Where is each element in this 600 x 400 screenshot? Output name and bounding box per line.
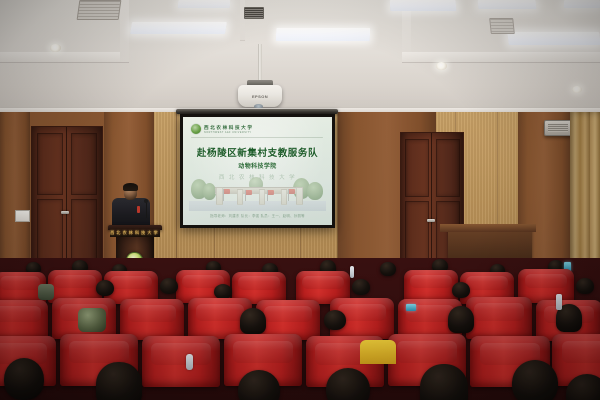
door-panel — [71, 133, 97, 195]
door-panel — [37, 199, 63, 267]
wall-speaker — [544, 120, 572, 136]
backpack — [38, 284, 54, 300]
gate-tree — [307, 182, 323, 200]
recessed-downlight — [436, 62, 447, 70]
podium-nameplate: 西北农林科技大学 — [110, 229, 160, 237]
ceiling-panel-light — [564, 0, 600, 8]
door-panel — [37, 133, 63, 195]
door-panel — [71, 199, 97, 267]
water-bottle — [186, 354, 193, 370]
ceiling-panel-light — [178, 0, 231, 8]
slide-title: 赴杨陵区新集村支教服务队 — [197, 145, 318, 159]
projection-screen-surface: 西北农林科技大学 NORTHWEST A&F UNIVERSITY 赴杨陵区新集… — [183, 117, 332, 225]
ceiling-air-vent — [77, 0, 122, 20]
gate-pillar — [281, 189, 287, 205]
seat[interactable] — [142, 336, 220, 387]
audience-head — [96, 280, 114, 296]
presenter-badge — [137, 206, 140, 213]
gate-pillar — [259, 189, 265, 205]
slide-divider — [191, 137, 323, 138]
recessed-downlight — [572, 86, 582, 93]
presentation-slide: 西北农林科技大学 NORTHWEST A&F UNIVERSITY 赴杨陵区新集… — [183, 117, 332, 225]
audience-head — [324, 310, 346, 330]
ceiling-panel-light — [390, 0, 457, 11]
audience-head — [4, 358, 44, 400]
gate-pillar — [296, 187, 303, 205]
recessed-downlight — [50, 44, 61, 52]
ceiling-panel-light — [478, 0, 537, 9]
slide-subtitle: 动物科技学院 — [238, 161, 276, 170]
audience-head — [96, 362, 142, 400]
phone-screen — [406, 304, 416, 311]
slide-gate-photo — [189, 175, 326, 211]
audience-head — [160, 278, 178, 294]
water-bottle — [350, 266, 354, 278]
audience-head — [448, 306, 474, 333]
audience-head — [380, 262, 396, 276]
ceiling-panel-light — [276, 28, 371, 41]
panel-seam — [176, 112, 177, 262]
projector-mount-pole — [258, 44, 262, 82]
audience-head — [352, 279, 370, 295]
audience-head — [576, 278, 594, 294]
audience-head — [420, 364, 468, 400]
slide-footer-text: 指导老师：刘建东 队长：李强 队员：王一、赵明、孙丽等 — [210, 213, 305, 218]
seat[interactable] — [0, 300, 48, 340]
presenter-hair — [123, 183, 138, 191]
university-logo-icon — [191, 124, 201, 134]
ceiling-beam — [120, 0, 129, 63]
yellow-jacket — [360, 340, 396, 364]
projector-brand-label: EPSON — [238, 94, 282, 99]
auditorium-scene: EPSON — [0, 0, 600, 400]
audience-head — [512, 360, 558, 400]
speaker-grille — [548, 124, 568, 132]
camouflage-backpack — [78, 308, 106, 332]
door-panel — [436, 139, 460, 197]
gate-ground — [189, 201, 326, 211]
wall-pilaster — [0, 112, 30, 272]
ceiling-beam — [0, 52, 128, 63]
microphone-head — [144, 199, 148, 203]
ceiling-beam — [402, 52, 600, 63]
left-door[interactable] — [31, 126, 103, 274]
audience-head — [240, 308, 266, 334]
water-bottle — [556, 294, 562, 310]
door-handle[interactable] — [427, 219, 435, 222]
door-seam — [66, 127, 67, 273]
gate-flag — [268, 190, 274, 195]
ceiling-air-vent — [489, 18, 515, 34]
door-panel — [405, 139, 429, 197]
seat[interactable] — [466, 297, 532, 339]
door-handle[interactable] — [61, 211, 69, 214]
wall-sign — [15, 210, 30, 222]
ceiling-panel-light — [130, 22, 227, 34]
microphone-stem — [146, 202, 147, 218]
projection-screen-frame: 西北农林科技大学 NORTHWEST A&F UNIVERSITY 赴杨陵区新集… — [180, 114, 335, 228]
gate-flag — [246, 190, 252, 195]
door-seam — [431, 133, 432, 273]
slide-logo-subtext: NORTHWEST A&F UNIVERSITY — [204, 131, 252, 134]
ceiling-panel-light — [507, 32, 600, 45]
audience-head — [452, 282, 470, 298]
podium-nameplate-text: 西北农林科技大学 — [110, 230, 160, 236]
audience-seating — [0, 258, 600, 400]
desk-top — [440, 224, 536, 232]
gate-flag — [224, 189, 230, 194]
ceiling: EPSON — [0, 0, 600, 118]
gate-pillar — [237, 189, 243, 205]
window-curtain — [570, 112, 600, 274]
gate-flag — [289, 189, 295, 194]
audience-head — [214, 284, 232, 299]
ceiling-air-vent — [244, 7, 264, 19]
gate-pillar — [216, 187, 223, 205]
